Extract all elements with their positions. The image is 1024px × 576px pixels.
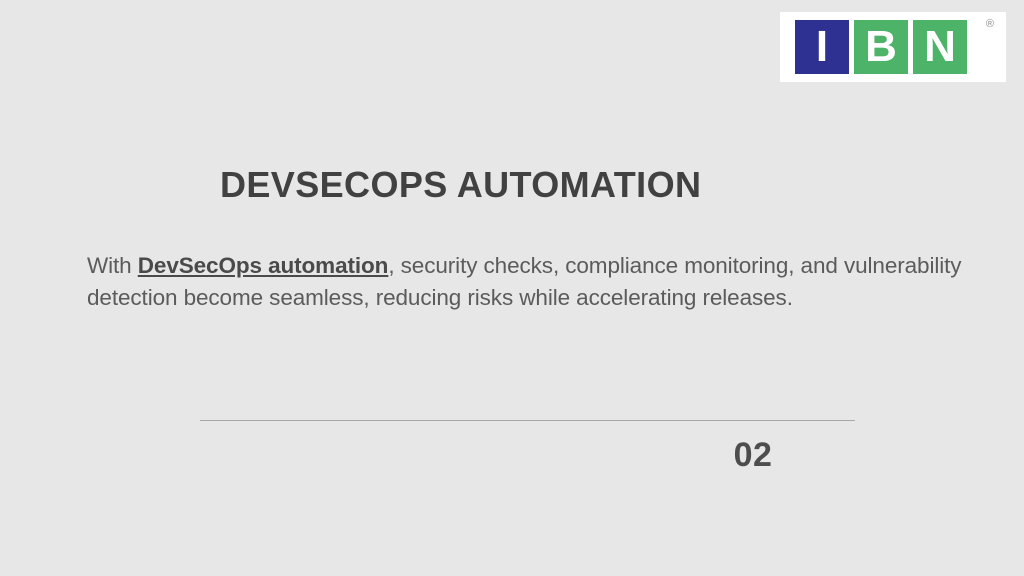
logo-square-n: N bbox=[913, 20, 967, 74]
logo-square-i: I bbox=[795, 20, 849, 74]
registered-trademark-icon: ® bbox=[986, 19, 994, 30]
footer-divider bbox=[200, 420, 855, 421]
ibn-logo: I B N ® bbox=[780, 12, 1006, 82]
page-number: 02 bbox=[700, 436, 806, 475]
page-title: DEVSECOPS AUTOMATION bbox=[220, 164, 701, 206]
logo-square-b: B bbox=[854, 20, 908, 74]
body-emphasis: DevSecOps automation bbox=[138, 253, 389, 278]
body-paragraph: With DevSecOps automation, security chec… bbox=[87, 250, 995, 314]
body-lead: With bbox=[87, 253, 138, 278]
logo-letter-squares: I B N bbox=[795, 20, 967, 74]
slide-canvas: I B N ® DEVSECOPS AUTOMATION With DevSec… bbox=[0, 0, 1024, 576]
